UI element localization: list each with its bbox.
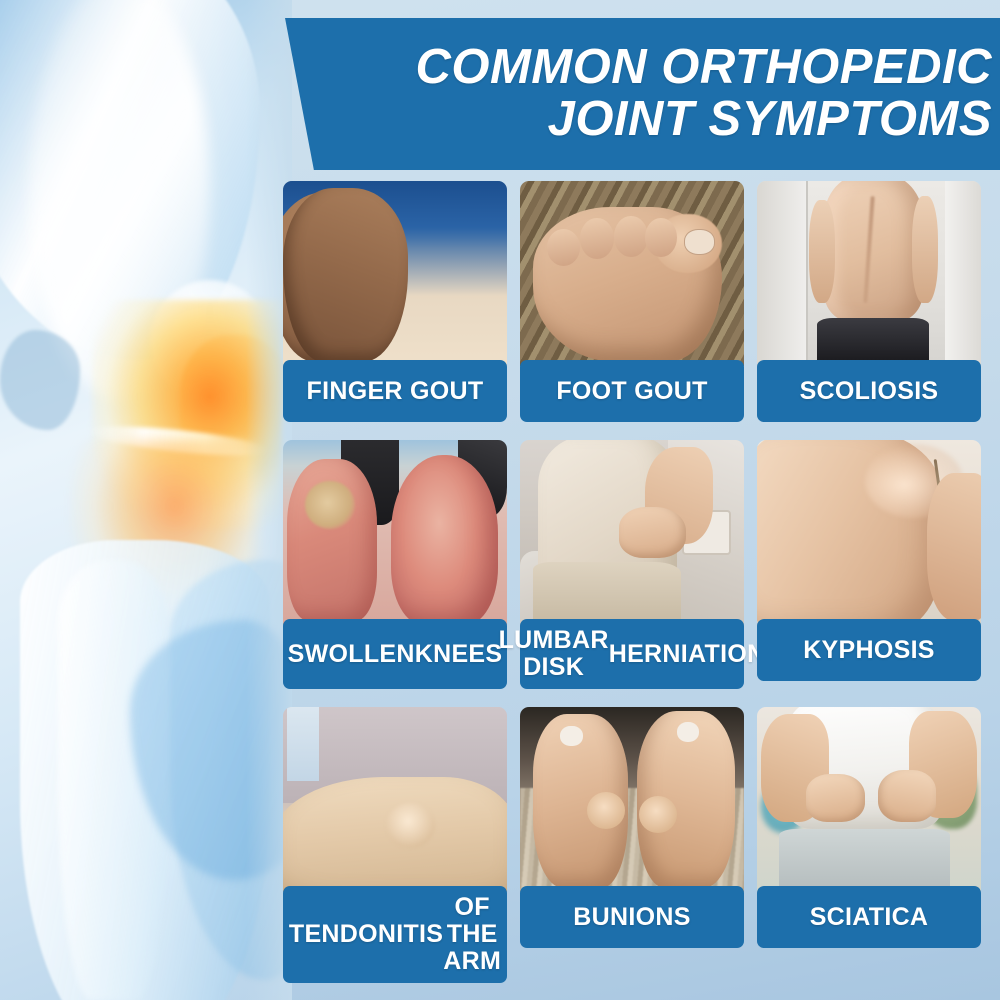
symptom-card-tendonitis-of-the-arm[interactable]: TENDONITIS OF THE ARM — [283, 707, 507, 983]
symptom-label-kyphosis: KYPHOSIS — [757, 619, 981, 681]
label-line-2: KNEES — [415, 641, 503, 668]
toenail-shape — [677, 722, 699, 742]
right-hand-on-back — [878, 770, 936, 822]
swollen-knees-photo — [283, 440, 507, 625]
toe-shape — [614, 216, 648, 257]
kyphosis-photo — [757, 440, 981, 625]
title-banner-text: COMMON ORTHOPEDIC JOINT SYMPTOMS — [268, 18, 1000, 170]
symptom-card-kyphosis[interactable]: KYPHOSIS — [757, 440, 981, 689]
symptom-grid: FINGER GOUT FOOT GOUT — [283, 181, 1000, 983]
tendon-swelling — [386, 803, 435, 847]
symptom-label-lumbar-disk-herniation: LUMBAR DISK HERNIATION — [520, 619, 744, 689]
symptom-card-lumbar-disk-herniation[interactable]: LUMBAR DISK HERNIATION — [520, 440, 744, 689]
grey-trousers-shape — [779, 829, 949, 892]
symptom-label-foot-gout: FOOT GOUT — [520, 360, 744, 422]
label-line-2: HERNIATION — [609, 641, 766, 668]
right-arm-shape — [912, 196, 939, 303]
finger-gout-photo — [283, 181, 507, 366]
bunions-photo — [520, 707, 744, 892]
title-line-1: COMMON ORTHOPEDIC — [415, 42, 992, 94]
symptom-card-sciatica[interactable]: SCIATICA — [757, 707, 981, 983]
title-banner: COMMON ORTHOPEDIC JOINT SYMPTOMS — [268, 18, 1000, 170]
symptom-label-bunions: BUNIONS — [520, 886, 744, 948]
toenail-shape — [684, 229, 715, 255]
foot-gout-photo — [520, 181, 744, 366]
symptom-label-swollen-knees: SWOLLEN KNEES — [283, 619, 507, 689]
symptom-card-scoliosis[interactable]: SCOLIOSIS — [757, 181, 981, 422]
scoliosis-photo — [757, 181, 981, 366]
sciatica-photo — [757, 707, 981, 892]
symptom-card-foot-gout[interactable]: FOOT GOUT — [520, 181, 744, 422]
toe-shape — [645, 218, 676, 257]
label-line-2: OF THE ARM — [443, 894, 501, 975]
symptom-label-tendonitis-of-the-arm: TENDONITIS OF THE ARM — [283, 886, 507, 983]
door-frame-left — [757, 181, 808, 366]
toenail-shape — [560, 726, 582, 746]
left-arm-shape — [809, 200, 836, 304]
toe-shape — [580, 218, 614, 259]
title-line-2: JOINT SYMPTOMS — [548, 94, 992, 146]
hand-on-lower-back — [619, 507, 686, 559]
lumbar-disk-herniation-photo — [520, 440, 744, 625]
dark-shorts-shape — [817, 318, 929, 366]
poster-root: COMMON ORTHOPEDIC JOINT SYMPTOMS FINGER … — [0, 0, 1000, 1000]
symptom-label-scoliosis: SCOLIOSIS — [757, 360, 981, 422]
symptom-label-sciatica: SCIATICA — [757, 886, 981, 948]
knee-anatomy-hero-image — [0, 0, 292, 1000]
label-line-1: LUMBAR DISK — [499, 627, 609, 681]
symptom-card-bunions[interactable]: BUNIONS — [520, 707, 744, 983]
label-line-1: TENDONITIS — [289, 921, 443, 948]
symptom-card-swollen-knees[interactable]: SWOLLEN KNEES — [283, 440, 507, 689]
right-bunion-bump — [639, 796, 677, 833]
door-frame-right — [945, 181, 981, 366]
beige-trousers-shape — [533, 562, 681, 625]
symptom-label-finger-gout: FINGER GOUT — [283, 360, 507, 422]
arm-shape — [927, 473, 981, 621]
tendonitis-of-the-arm-photo — [283, 707, 507, 892]
right-hand-shape — [283, 188, 408, 362]
right-swollen-knee-shape — [391, 455, 499, 625]
label-line-1: SWOLLEN — [288, 641, 415, 668]
window-light — [287, 707, 318, 781]
symptom-card-finger-gout[interactable]: FINGER GOUT — [283, 181, 507, 422]
psoriasis-plaque — [305, 481, 354, 529]
background-shadow-patch — [0, 330, 80, 430]
left-hand-on-back — [806, 774, 864, 822]
